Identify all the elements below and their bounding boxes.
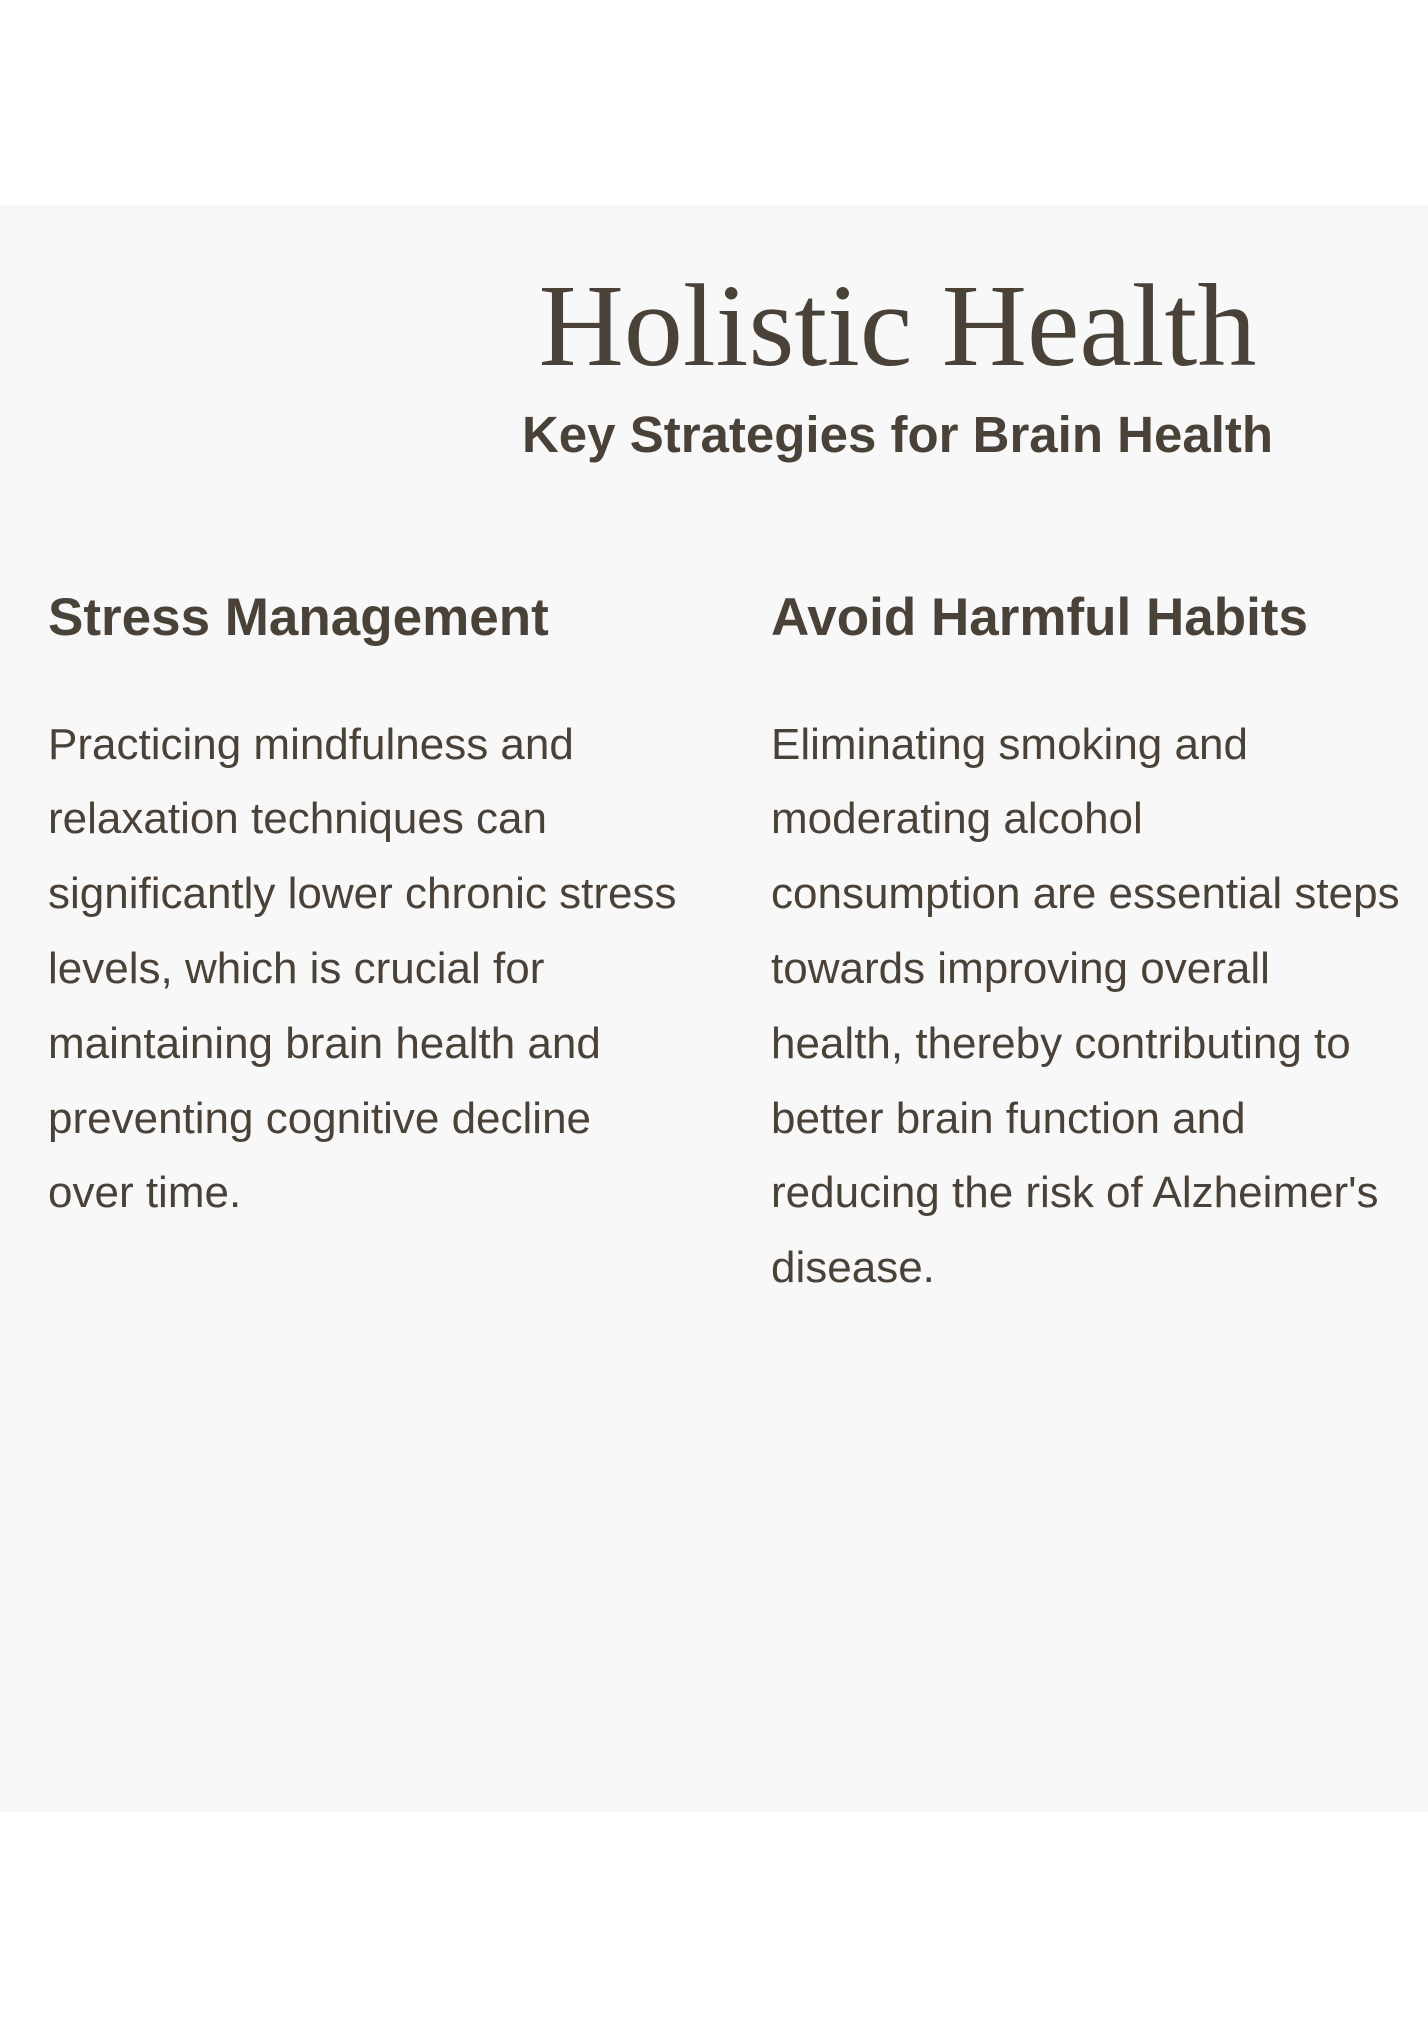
content-panel: Holistic Health Key Strategies for Brain… (0, 205, 1428, 1812)
column-avoid-harmful-habits: Avoid Harmful Habits Eliminating smoking… (771, 590, 1401, 1306)
page-subtitle: Key Strategies for Brain Health (0, 385, 1428, 460)
column-heading: Avoid Harmful Habits (771, 590, 1401, 646)
slide-frame: Holistic Health Key Strategies for Brain… (0, 0, 1428, 2018)
column-body-text: Practicing mindfulness and relaxation te… (48, 708, 678, 1232)
column-heading: Stress Management (48, 590, 678, 646)
columns-container: Stress Management Practicing mindfulness… (48, 590, 1428, 1306)
header: Holistic Health Key Strategies for Brain… (0, 205, 1428, 460)
column-stress-management: Stress Management Practicing mindfulness… (48, 590, 678, 1306)
page-title: Holistic Health (0, 205, 1428, 385)
column-body-text: Eliminating smoking and moderating alcoh… (771, 708, 1401, 1306)
